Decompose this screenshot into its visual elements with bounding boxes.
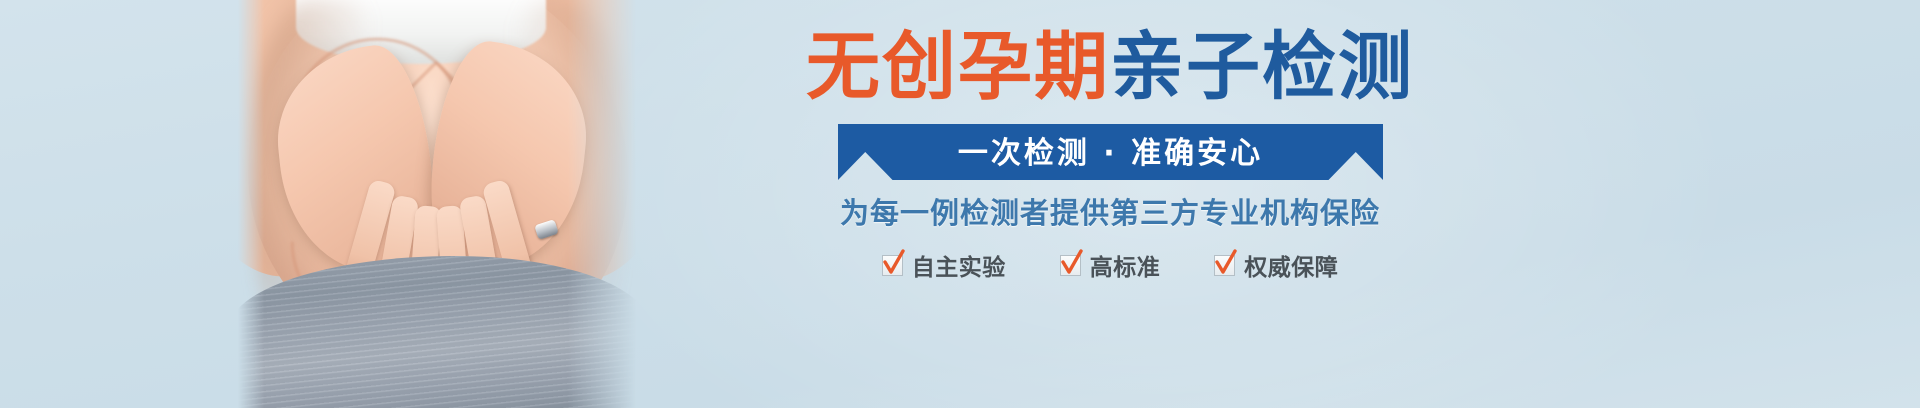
waistband-texture (238, 256, 638, 408)
feature-label: 自主实验 (912, 248, 1006, 282)
subtitle: 为每一例检测者提供第三方专业机构保险 (760, 190, 1460, 232)
page-title: 无创孕期亲子检测 (760, 30, 1460, 104)
hero-photo (238, 0, 638, 408)
feature-label: 权威保障 (1244, 248, 1338, 282)
promo-banner: 无创孕期亲子检测 一次检测 · 准确安心 为每一例检测者提供第三方专业机构保险 … (0, 0, 1920, 408)
feature-item-1: 高标准 (1060, 248, 1161, 282)
headline-orange: 无创孕期 (806, 24, 1110, 110)
checkmark-icon (882, 255, 903, 276)
checkmark-icon (1060, 255, 1081, 276)
copy-block: 无创孕期亲子检测 一次检测 · 准确安心 为每一例检测者提供第三方专业机构保险 … (760, 0, 1460, 408)
grey-waistband (238, 256, 638, 408)
feature-label: 高标准 (1090, 248, 1161, 282)
checkmark-icon (1214, 255, 1235, 276)
feature-item-2: 权威保障 (1214, 248, 1338, 282)
tagline-ribbon: 一次检测 · 准确安心 (838, 124, 1383, 180)
feature-item-0: 自主实验 (882, 248, 1006, 282)
tagline-ribbon-text: 一次检测 · 准确安心 (838, 124, 1383, 180)
feature-list: 自主实验 高标准 权威保障 (760, 248, 1460, 282)
headline-blue: 亲子检测 (1110, 24, 1414, 110)
hero-photo-image (238, 0, 638, 408)
